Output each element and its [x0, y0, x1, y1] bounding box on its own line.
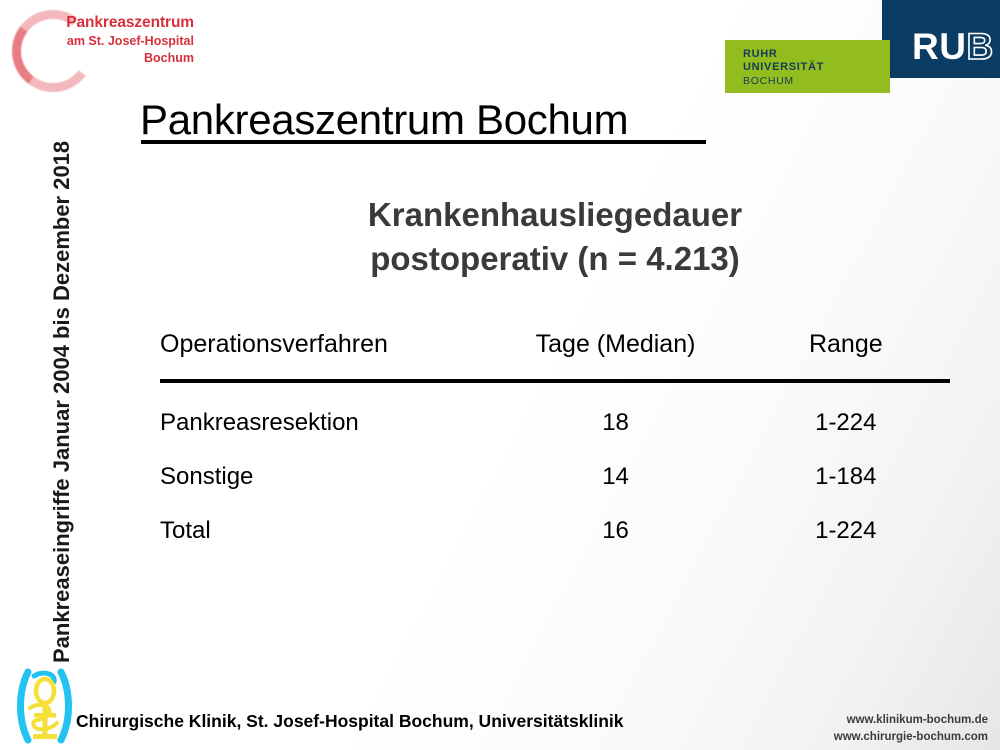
logo-line-1: Pankreaszentrum	[34, 13, 194, 33]
title-underline	[141, 140, 706, 144]
footer-institution: Chirurgische Klinik, St. Josef-Hospital …	[76, 711, 623, 732]
cell-verfahren: Sonstige	[160, 463, 488, 491]
rub-green-line-1: RUHR	[743, 48, 824, 61]
rub-letters-outline: B	[966, 26, 993, 67]
pankreaszentrum-logo: Pankreaszentrum am St. Josef-Hospital Bo…	[8, 4, 198, 82]
cell-tage: 16	[488, 517, 740, 545]
page-title: Pankreaszentrum Bochum	[140, 96, 628, 144]
logo-line-3: Bochum	[34, 50, 194, 67]
logo-line-2: am St. Josef-Hospital	[34, 33, 194, 50]
table-row: Sonstige 14 1-184	[160, 463, 950, 491]
cell-range: 1-224	[740, 409, 950, 437]
table-header-rule	[160, 379, 950, 383]
table-row: Pankreasresektion 18 1-224	[160, 409, 950, 437]
subtitle-line-1: Krankenhausliegedauer	[160, 193, 950, 237]
cell-verfahren: Total	[160, 517, 488, 545]
footer-url-klinikum[interactable]: www.klinikum-bochum.de	[834, 712, 988, 729]
footer-url-chirurgie[interactable]: www.chirurgie-bochum.com	[834, 729, 988, 746]
results-table: Operationsverfahren Tage (Median) Range …	[160, 330, 950, 545]
rub-letters-solid: RU	[912, 26, 966, 67]
rub-wordmark: RUB	[912, 28, 994, 65]
rub-green-block: RUHR UNIVERSITÄT BOCHUM	[725, 40, 890, 93]
pankreaszentrum-logo-text: Pankreaszentrum am St. Josef-Hospital Bo…	[34, 13, 194, 66]
chirurgische-klinik-logo	[14, 668, 76, 746]
cell-range: 1-224	[740, 517, 950, 545]
rub-green-text: RUHR UNIVERSITÄT BOCHUM	[743, 48, 824, 88]
column-header-tage: Tage (Median)	[488, 330, 740, 359]
rub-green-line-3: BOCHUM	[743, 75, 824, 88]
subtitle-line-2: postoperativ (n = 4.213)	[160, 237, 950, 281]
table-header-row: Operationsverfahren Tage (Median) Range	[160, 330, 950, 359]
table-row: Total 16 1-224	[160, 517, 950, 545]
cell-tage: 14	[488, 463, 740, 491]
cell-verfahren: Pankreasresektion	[160, 409, 488, 437]
column-header-range: Range	[740, 330, 950, 359]
rub-green-line-2: UNIVERSITÄT	[743, 61, 824, 74]
cell-tage: 18	[488, 409, 740, 437]
cell-range: 1-184	[740, 463, 950, 491]
aesculap-staff-icon	[14, 668, 76, 746]
slide-subtitle: Krankenhausliegedauer postoperativ (n = …	[160, 193, 950, 281]
column-header-verfahren: Operationsverfahren	[160, 330, 488, 359]
vertical-period-label: Pankreaseingriffe Januar 2004 bis Dezemb…	[49, 143, 75, 663]
slide-canvas: Pankreaszentrum am St. Josef-Hospital Bo…	[0, 0, 1000, 750]
footer-urls: www.klinikum-bochum.de www.chirurgie-boc…	[834, 712, 988, 745]
